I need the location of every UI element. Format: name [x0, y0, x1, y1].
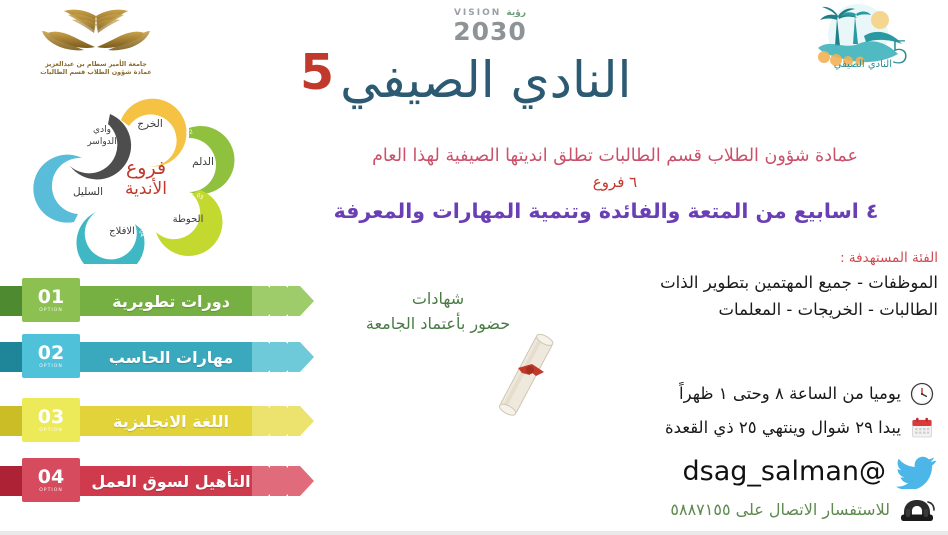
schedule-date-text: يبدا ٢٩ شوال وينتهي ٢٥ ذي القعدة	[665, 415, 901, 441]
page-title: النادي الصيفي 5	[300, 44, 700, 116]
diploma-scroll-icon	[492, 330, 566, 426]
headline-announcement: عمادة شؤون الطلاب قسم الطالبات تطلق اندي…	[290, 144, 940, 168]
twitter-bird-icon[interactable]	[896, 455, 936, 489]
target-audience-line-2: الطالبات - الخريجات - المعلمات	[558, 296, 938, 323]
vision-number: 2030	[430, 19, 550, 45]
telephone-icon	[898, 496, 936, 524]
university-name-line2: عمادة شؤون الطلاب قسم الطالبات	[8, 68, 184, 76]
svg-text:وادي: وادي	[93, 125, 111, 135]
schedule-date-row: يبدا ٢٩ شوال وينتهي ٢٥ ذي القعدة	[665, 415, 934, 441]
calendar-icon	[910, 416, 934, 440]
option-number: 02	[38, 343, 64, 363]
summer-club-logo: 5 النادي الصيفي	[796, 2, 944, 94]
main-title-text: النادي الصيفي	[340, 50, 631, 110]
option-sublabel: OPTION	[39, 427, 63, 434]
university-logo: جامعة الأمير سطام بن عبدالعزيز عمادة شؤو…	[8, 6, 184, 80]
svg-text:السليل: السليل	[73, 186, 103, 198]
option-banner-04[interactable]: 04 OPTION التأهيل لسوق العمل	[0, 458, 314, 502]
target-audience-block: الفئة المستهدفة : الموظفات - جميع المهتم…	[558, 248, 938, 323]
option-number-box: 04 OPTION	[22, 458, 80, 502]
poster-canvas: جامعة الأمير سطام بن عبدالعزيز عمادة شؤو…	[0, 0, 948, 535]
flower-center-line-2: الأندية	[125, 178, 167, 199]
title-edition-number: 5	[300, 48, 334, 98]
schedule-time-text: يوميا من الساعة ٨ وحتى ١ ظهراً	[679, 381, 901, 407]
svg-text:الدواسر: الدواسر	[86, 137, 116, 147]
option-number-box: 02 OPTION	[22, 334, 80, 378]
option-sublabel: OPTION	[39, 307, 63, 314]
certificates-line-1: شهادات	[330, 286, 546, 311]
option-sublabel: OPTION	[39, 487, 63, 494]
phone-row: للاستفسار الاتصال على ٥٨٨٧١٥٥	[670, 496, 936, 524]
option-number-box: 03 OPTION	[22, 398, 80, 442]
option-number: 03	[38, 407, 64, 427]
svg-text:الدلم: الدلم	[192, 156, 214, 168]
option-label: مهارات الحاسب	[86, 342, 256, 372]
option-banner-02[interactable]: 02 OPTION مهارات الحاسب	[0, 334, 314, 378]
branches-flower-diagram: الخرج 01 الدلم 02 الحوطة 03 الافلاج 04 ا…	[22, 82, 270, 264]
phone-contact-text: للاستفسار الاتصال على ٥٨٨٧١٥٥	[670, 498, 890, 522]
option-banner-01[interactable]: 01 OPTION دورات تطويرية	[0, 278, 314, 322]
bottom-divider	[0, 531, 948, 535]
club-logo-number: 5	[890, 38, 910, 69]
headline-weeks: ٤ اسابيع من المتعة والفائدة وتنمية المها…	[272, 196, 940, 226]
target-audience-line-1: الموظفات - جميع المهتمين بتطوير الذات	[558, 269, 938, 296]
option-label: دورات تطويرية	[86, 286, 256, 316]
option-label: التأهيل لسوق العمل	[86, 466, 256, 496]
svg-text:الخرج: الخرج	[137, 118, 162, 130]
headline-branch-count: ٦ فروع	[290, 172, 940, 192]
option-number: 01	[38, 287, 64, 307]
twitter-row[interactable]: @dsag_salman	[683, 455, 936, 489]
clock-icon	[910, 382, 934, 406]
open-book-hands-icon	[8, 6, 184, 60]
club-logo-arabic: النادي الصيفي	[834, 59, 892, 70]
svg-text:الافلاج: الافلاج	[109, 226, 135, 237]
flower-center-line-1: فروع	[126, 157, 166, 179]
option-banner-03[interactable]: 03 OPTION اللغة الانجليزية	[0, 398, 314, 442]
option-sublabel: OPTION	[39, 363, 63, 370]
university-name-line1: جامعة الأمير سطام بن عبدالعزيز	[8, 60, 184, 68]
target-audience-heading: الفئة المستهدفة :	[558, 248, 938, 269]
certificates-note: شهادات حضور بأعتماد الجامعة	[330, 286, 546, 336]
option-number-box: 01 OPTION	[22, 278, 80, 322]
twitter-handle[interactable]: @dsag_salman	[683, 456, 886, 488]
option-number: 04	[38, 467, 64, 487]
svg-text:الحوطة: الحوطة	[173, 214, 204, 225]
option-label: اللغة الانجليزية	[86, 406, 256, 436]
schedule-time-row: يوميا من الساعة ٨ وحتى ١ ظهراً	[679, 381, 934, 407]
